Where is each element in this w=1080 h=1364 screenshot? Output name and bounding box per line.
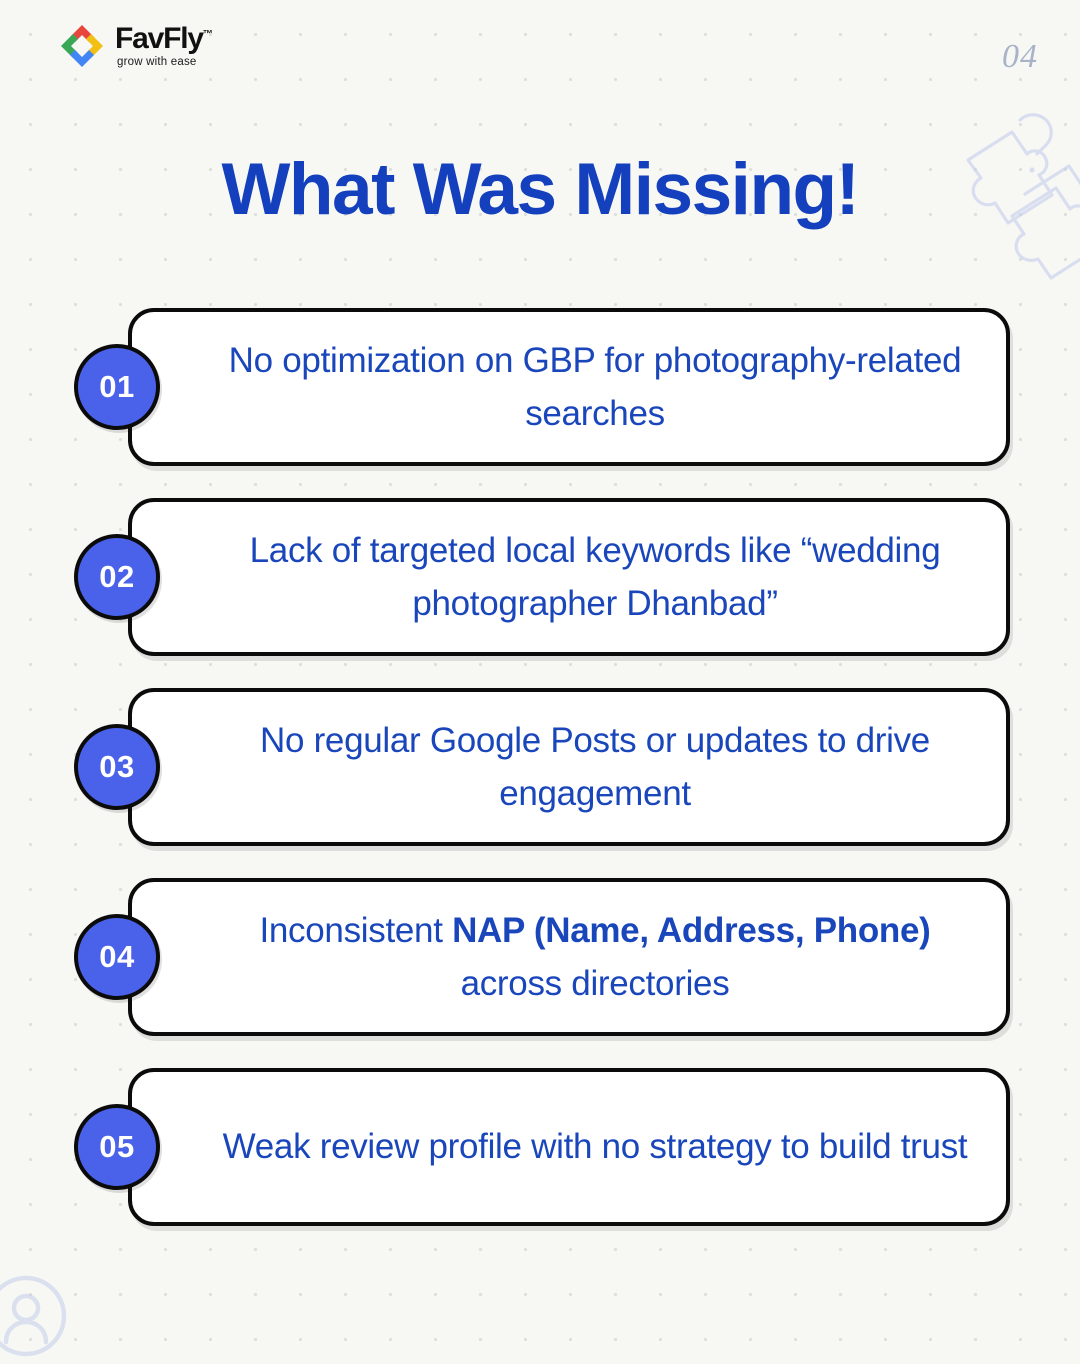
page-title: What Was Missing!: [0, 148, 1080, 231]
item-text: Inconsistent NAP (Name, Address, Phone) …: [218, 904, 972, 1010]
list-item: Inconsistent NAP (Name, Address, Phone) …: [0, 878, 1080, 1036]
item-card: Lack of targeted local keywords like “we…: [128, 498, 1010, 656]
list-item: No optimization on GBP for photography-r…: [0, 308, 1080, 466]
item-card: Weak review profile with no strategy to …: [128, 1068, 1010, 1226]
item-text: Weak review profile with no strategy to …: [223, 1120, 968, 1173]
item-number-badge: 02: [74, 534, 160, 620]
list-item: Lack of targeted local keywords like “we…: [0, 498, 1080, 656]
missing-items-list: No optimization on GBP for photography-r…: [0, 308, 1080, 1258]
brand-logo[interactable]: FavFly™ grow with ease: [58, 22, 213, 70]
page-number: 04: [1002, 38, 1038, 76]
item-text: No regular Google Posts or updates to dr…: [218, 714, 972, 820]
item-number-badge: 03: [74, 724, 160, 810]
item-card: No optimization on GBP for photography-r…: [128, 308, 1010, 466]
item-card: No regular Google Posts or updates to dr…: [128, 688, 1010, 846]
item-number-badge: 01: [74, 344, 160, 430]
brand-tagline: grow with ease: [117, 57, 197, 69]
item-text: Lack of targeted local keywords like “we…: [218, 524, 972, 630]
list-item: No regular Google Posts or updates to dr…: [0, 688, 1080, 846]
item-card: Inconsistent NAP (Name, Address, Phone) …: [128, 878, 1010, 1036]
item-text: No optimization on GBP for photography-r…: [218, 334, 972, 440]
brand-name-text: FavFly: [115, 22, 203, 55]
four-diamond-logo-icon: [58, 22, 106, 70]
item-number-badge: 05: [74, 1104, 160, 1190]
brand-name: FavFly™: [115, 24, 213, 54]
list-item: Weak review profile with no strategy to …: [0, 1068, 1080, 1226]
item-number-badge: 04: [74, 914, 160, 1000]
trademark-symbol: ™: [203, 29, 213, 40]
